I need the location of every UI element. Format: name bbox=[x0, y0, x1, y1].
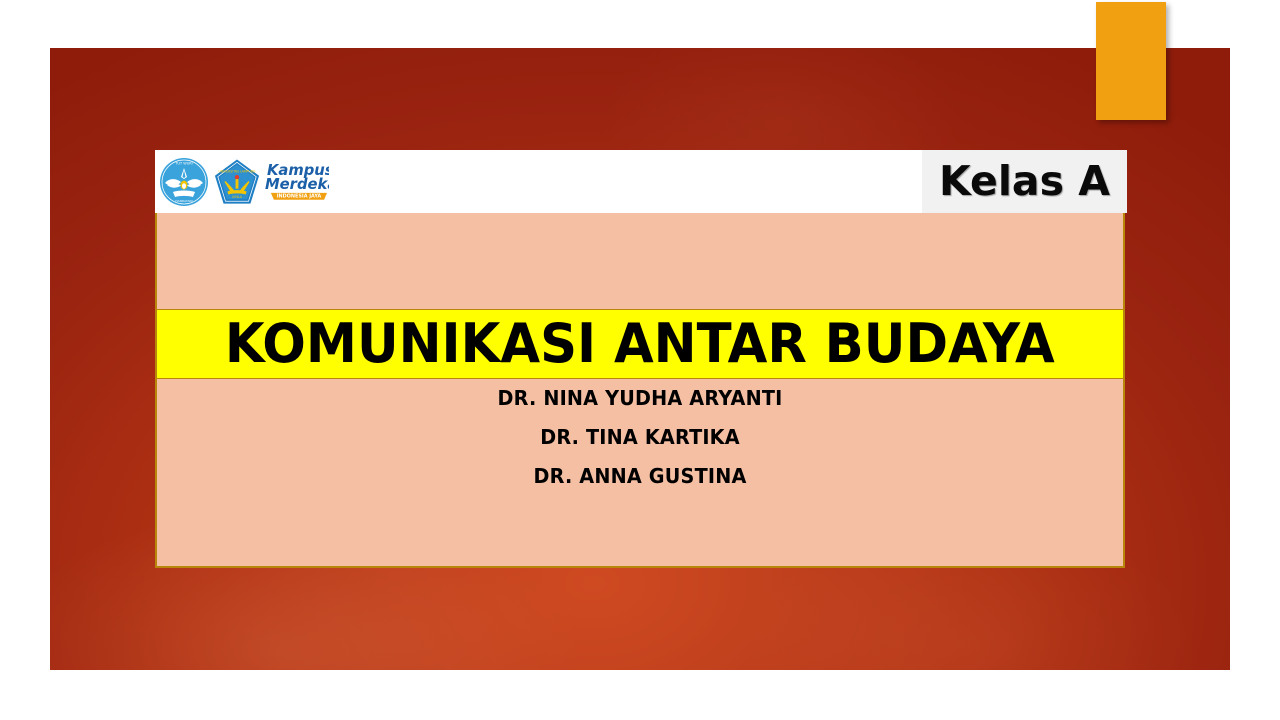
logo-strip: TUT WURI HANDAYANI UNIVERSITAS LAMPUNG bbox=[155, 150, 922, 213]
svg-text:TUT WURI: TUT WURI bbox=[174, 161, 192, 165]
title-band: KOMUNIKASI ANTAR BUDAYA bbox=[157, 309, 1123, 379]
svg-text:INDONESIA JAYA: INDONESIA JAYA bbox=[277, 193, 322, 199]
kampus-merdeka-logo: Kampus Merdeka INDONESIA JAYA bbox=[265, 158, 329, 206]
svg-text:HANDAYANI: HANDAYANI bbox=[175, 199, 193, 203]
author-line: DR. NINA YUDHA ARYANTI bbox=[176, 388, 1103, 408]
universitas-lampung-seal: UNIVERSITAS LAMPUNG UNILA bbox=[213, 158, 261, 206]
svg-text:Merdeka: Merdeka bbox=[265, 175, 329, 192]
header-bar: TUT WURI HANDAYANI UNIVERSITAS LAMPUNG bbox=[155, 150, 1127, 213]
svg-text:UNIVERSITAS LAMPUNG: UNIVERSITAS LAMPUNG bbox=[219, 169, 256, 173]
slide-canvas: TUT WURI HANDAYANI UNIVERSITAS LAMPUNG bbox=[0, 0, 1280, 720]
svg-text:UNILA: UNILA bbox=[232, 194, 243, 198]
tut-wuri-handayani-logo: TUT WURI HANDAYANI bbox=[159, 157, 209, 207]
author-line: DR. TINA KARTIKA bbox=[176, 427, 1103, 447]
slide-title: KOMUNIKASI ANTAR BUDAYA bbox=[225, 317, 1055, 371]
orange-accent-block bbox=[1096, 2, 1166, 120]
authors-block: DR. NINA YUDHA ARYANTI DR. TINA KARTIKA … bbox=[157, 388, 1123, 505]
class-badge: Kelas A bbox=[922, 150, 1127, 213]
slide-content-box: KOMUNIKASI ANTAR BUDAYA DR. NINA YUDHA A… bbox=[155, 213, 1125, 568]
author-line: DR. ANNA GUSTINA bbox=[176, 466, 1103, 486]
class-badge-label: Kelas A bbox=[939, 161, 1110, 202]
